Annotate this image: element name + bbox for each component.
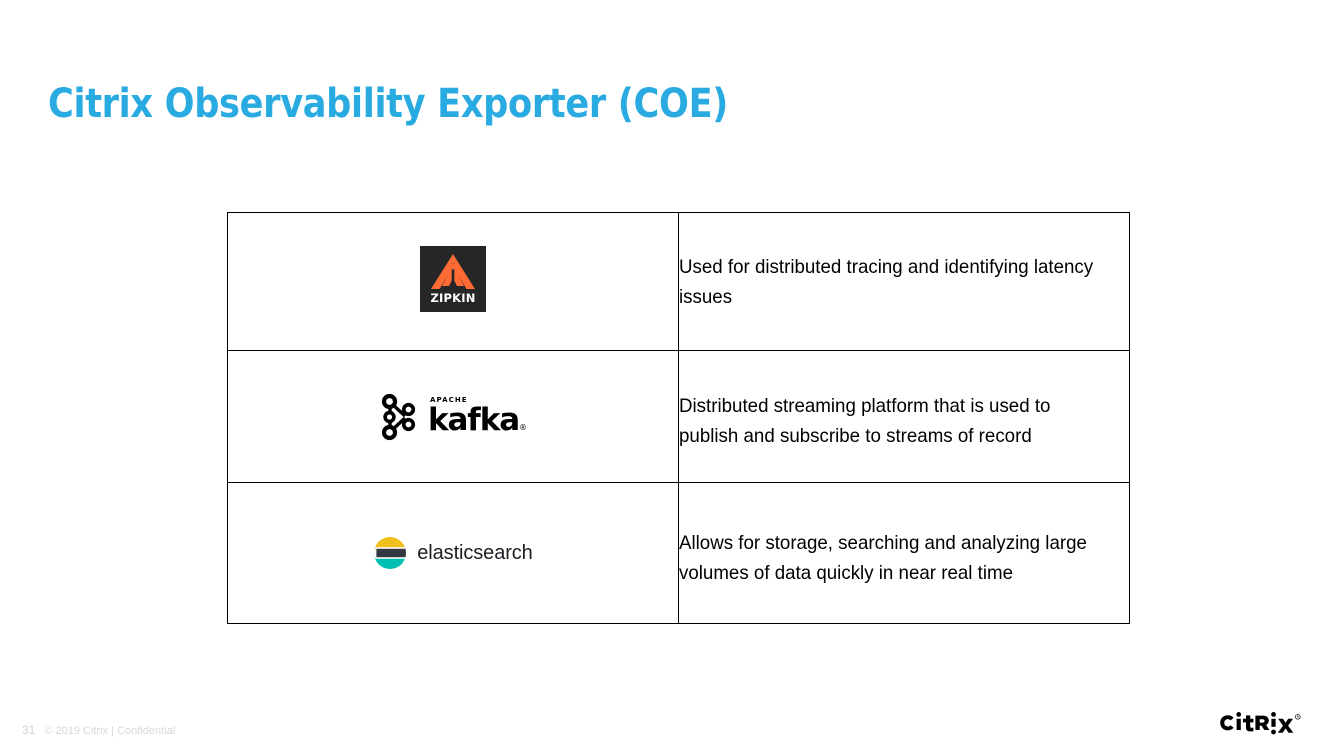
- description-cell: Distributed streaming platform that is u…: [679, 351, 1130, 483]
- table-row: ZIPKIN Used for distributed tracing and …: [228, 213, 1130, 351]
- description-text: Used for distributed tracing and identif…: [679, 252, 1111, 312]
- zipkin-logo-wrap: ZIPKIN: [420, 246, 486, 312]
- slide: Citrix Observability Exporter (COE): [0, 0, 1333, 750]
- logo-cell-zipkin: ZIPKIN: [228, 213, 679, 351]
- kafka-name-text: kafka: [428, 402, 519, 438]
- description-text: Distributed streaming platform that is u…: [679, 382, 1111, 451]
- citrix-brand-logo: R: [1215, 708, 1311, 736]
- elasticsearch-icon: [373, 536, 407, 570]
- table-row: APACHE kafka® Distributed streaming plat…: [228, 351, 1130, 483]
- table-row: elasticsearch Allows for storage, search…: [228, 483, 1130, 624]
- page-title: Citrix Observability Exporter (COE): [48, 82, 728, 126]
- kafka-trademark: ®: [519, 423, 527, 432]
- description-text: Allows for storage, searching and analyz…: [679, 519, 1111, 588]
- kafka-wordmark: APACHE kafka®: [428, 397, 527, 436]
- slide-footer: 31 © 2019 Citrix | Confidential: [22, 723, 175, 737]
- zipkin-wordmark: ZIPKIN: [420, 291, 486, 305]
- elasticsearch-wordmark: elasticsearch: [417, 542, 532, 565]
- slide-number: 31: [22, 723, 35, 737]
- zipkin-icon: ZIPKIN: [420, 246, 486, 312]
- description-cell: Allows for storage, searching and analyz…: [679, 483, 1130, 624]
- copyright-text: © 2019 Citrix | Confidential: [44, 725, 175, 737]
- elasticsearch-logo-wrap: elasticsearch: [228, 536, 678, 570]
- kafka-icon: [379, 392, 421, 442]
- description-cell: Used for distributed tracing and identif…: [679, 213, 1130, 351]
- component-description-table: ZIPKIN Used for distributed tracing and …: [227, 212, 1130, 624]
- logo-cell-elasticsearch: elasticsearch: [228, 483, 679, 624]
- logo-cell-kafka: APACHE kafka®: [228, 351, 679, 483]
- kafka-name: kafka®: [428, 405, 527, 436]
- kafka-logo-wrap: APACHE kafka®: [228, 392, 678, 442]
